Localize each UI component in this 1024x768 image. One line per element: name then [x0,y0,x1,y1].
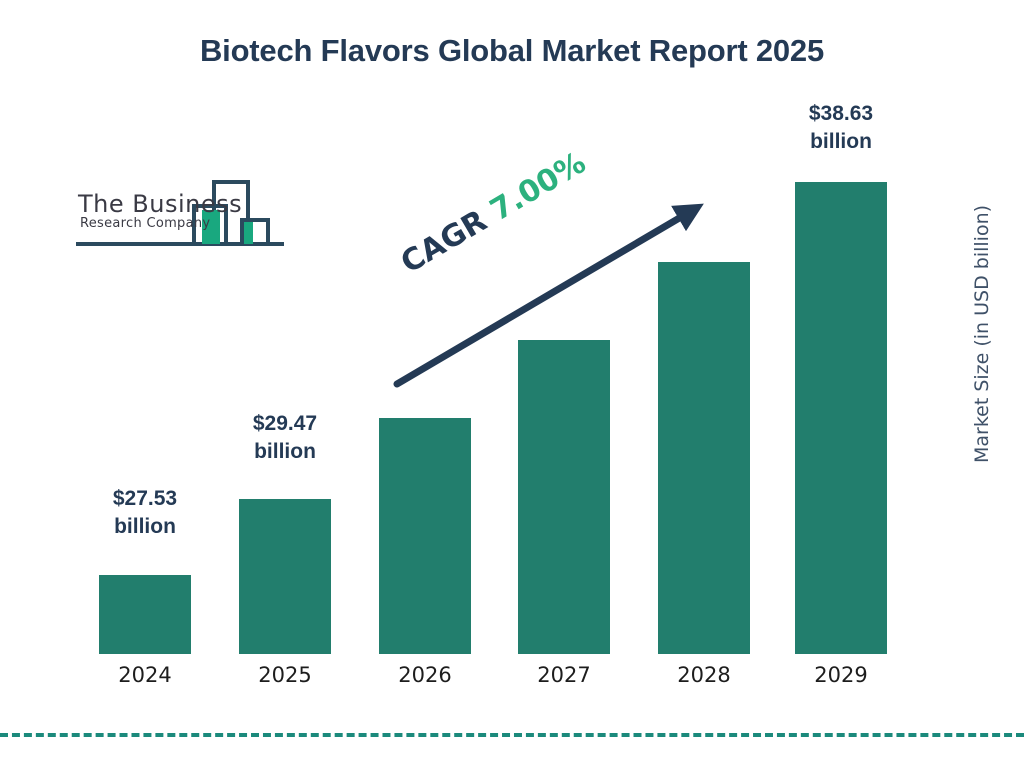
footer-divider [0,733,1024,737]
bar-2027[interactable] [518,340,610,654]
bar-2026[interactable] [379,418,471,654]
bar-2029[interactable] [795,182,887,654]
cagr-value: 7.00% [484,145,591,228]
x-tick-2028: 2028 [634,663,774,687]
x-tick-2027: 2027 [494,663,634,687]
bar-value-label-2029: $38.63 billion [771,100,911,155]
bar-value-label-2025: $29.47 billion [215,410,355,465]
bar-2028[interactable] [658,262,750,654]
cagr-label: CAGR [395,198,502,281]
x-tick-2029: 2029 [771,663,911,687]
chart-canvas: Biotech Flavors Global Market Report 202… [0,0,1024,768]
cagr-annotation: CAGR 7.00% [395,145,592,280]
bar-value-label-2024: $27.53 billion [75,485,215,540]
bar-chart-plot: $27.53 billion $29.47 billion $38.63 bil… [0,0,1024,768]
x-tick-2026: 2026 [355,663,495,687]
x-tick-2024: 2024 [75,663,215,687]
bar-2024[interactable] [99,575,191,654]
x-tick-2025: 2025 [215,663,355,687]
bar-2025[interactable] [239,499,331,654]
y-axis-title: Market Size (in USD billion) [971,164,993,504]
